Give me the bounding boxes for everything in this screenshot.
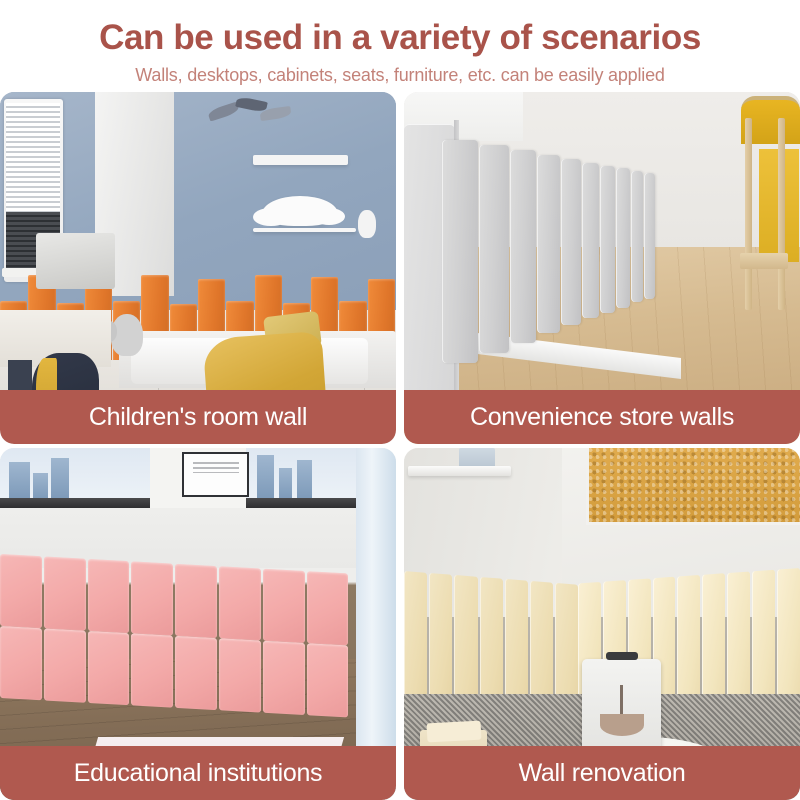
bunk-ladder-post-right xyxy=(778,118,785,310)
scenario-caption-educational-institutions: Educational institutions xyxy=(0,746,396,800)
elephant-plush-toy xyxy=(111,314,143,356)
cork-board xyxy=(586,448,800,525)
framed-picture xyxy=(182,452,249,498)
page-title: Can be used in a variety of scenarios xyxy=(0,16,800,60)
scenario-caption-wall-renovation: Wall renovation xyxy=(404,746,800,800)
bunk-ladder-post-left xyxy=(745,118,752,310)
wall-shelf-upper xyxy=(253,155,348,164)
product-scenarios-page: Can be used in a variety of scenarios Wa… xyxy=(0,0,800,800)
cloud-decor-icon xyxy=(262,196,338,226)
suitcase-sailboat-mast xyxy=(620,685,622,716)
page-subtitle: Walls, desktops, cabinets, seats, furnit… xyxy=(0,62,800,88)
hanging-mobile-decor xyxy=(206,96,293,128)
grey-wall-panels xyxy=(404,138,677,391)
bunk-ladder-rung xyxy=(740,253,788,268)
city-skyline-building xyxy=(33,473,48,499)
city-skyline-building xyxy=(257,455,275,499)
yellow-bunk-bed xyxy=(725,92,800,310)
cloud-shelf-group xyxy=(253,198,356,237)
suitcase-sailboat-hull xyxy=(600,714,644,736)
window-sill xyxy=(0,498,150,508)
decorative-suitcase xyxy=(582,659,661,751)
window-sill xyxy=(246,498,357,508)
city-skyline-building xyxy=(51,458,69,500)
pink-wall-panels xyxy=(0,554,348,718)
scenario-card-childrens-room-wall[interactable]: Children's room wall xyxy=(0,92,396,444)
bunny-plush-toy xyxy=(358,210,376,238)
scenario-grid: Children's room wall xyxy=(0,92,800,800)
scenario-caption-convenience-store-walls: Convenience store walls xyxy=(404,390,800,444)
wall-shelf-lower xyxy=(253,228,356,232)
window-left xyxy=(0,448,150,508)
wall-shelf xyxy=(408,466,511,477)
city-skyline-building xyxy=(9,462,30,499)
monitor xyxy=(36,233,115,289)
scenario-card-convenience-store-walls[interactable]: Convenience store walls xyxy=(404,92,800,444)
scenario-caption-childrens-room-wall: Children's room wall xyxy=(0,390,396,444)
window-right xyxy=(246,448,357,508)
scenario-card-educational-institutions[interactable]: Educational institutions xyxy=(0,448,396,800)
header: Can be used in a variety of scenarios Wa… xyxy=(0,0,800,88)
city-skyline-building xyxy=(279,468,292,499)
suitcase-handle xyxy=(606,652,638,660)
scenario-card-wall-renovation[interactable]: Wall renovation xyxy=(404,448,800,800)
city-skyline-building xyxy=(297,460,313,499)
